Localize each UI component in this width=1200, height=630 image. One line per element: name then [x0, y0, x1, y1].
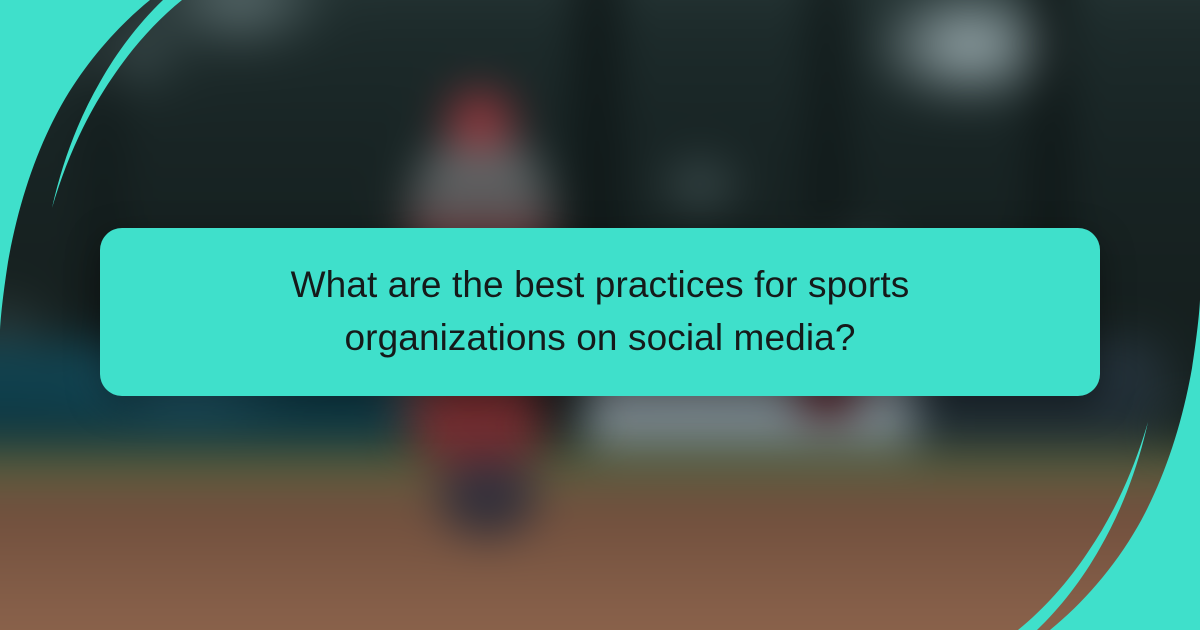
- question-card: What are the best practices for sports o…: [100, 228, 1100, 396]
- question-title: What are the best practices for sports o…: [230, 259, 970, 364]
- player-helmet: [445, 90, 515, 152]
- social-share-card: What are the best practices for sports o…: [0, 0, 1200, 630]
- background-infield-dirt: [0, 485, 1200, 630]
- player-pants: [440, 460, 535, 535]
